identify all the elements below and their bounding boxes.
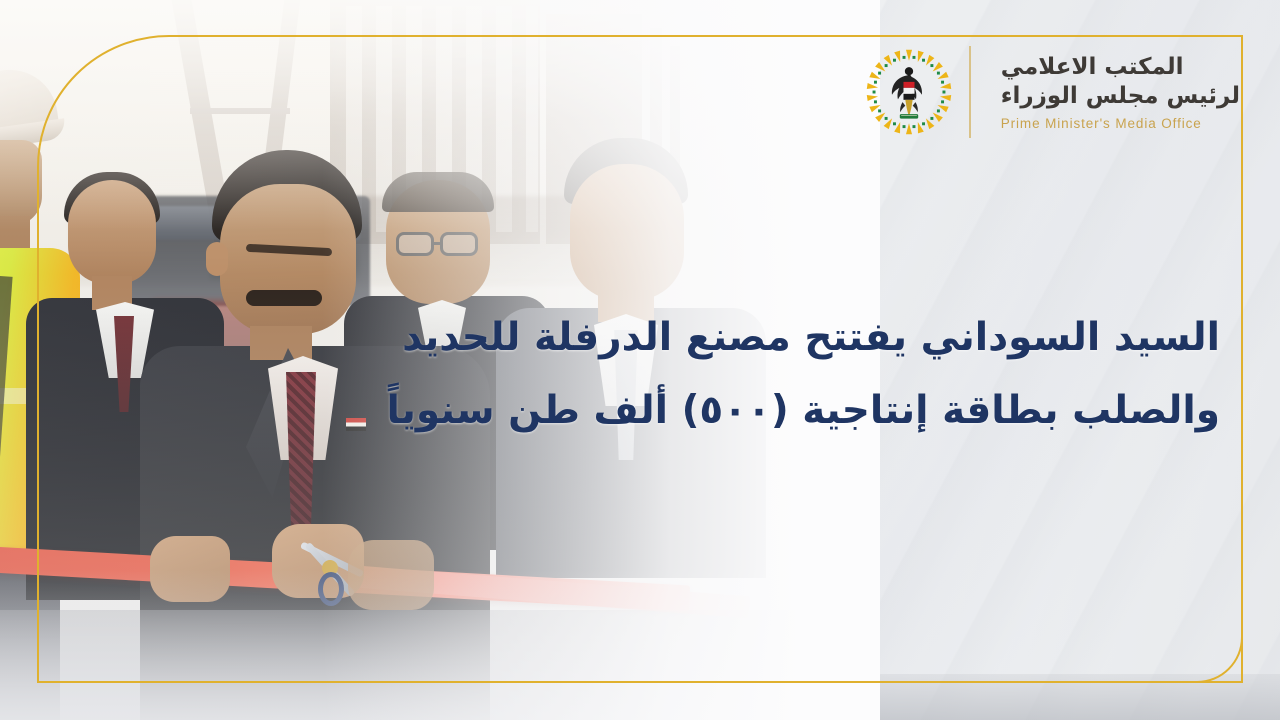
logo-english-line: Prime Minister's Media Office [1001, 116, 1202, 131]
pmo-logo-lockup: المكتب الاعلامي لرئيس مجلس الوزراء Prime… [863, 46, 1240, 138]
logo-text-block: المكتب الاعلامي لرئيس مجلس الوزراء Prime… [985, 53, 1240, 130]
headline-line-2: والصلب بطاقة إنتاجية (٥٠٠) ألف طن سنوياً [460, 391, 1220, 430]
logo-divider [969, 46, 971, 138]
headline-line-1: السيد السوداني يفتتح مصنع الدرفلة للحديد [460, 318, 1220, 357]
iraq-emblem-icon [863, 46, 955, 138]
headline-block: السيد السوداني يفتتح مصنع الدرفلة للحديد… [460, 318, 1220, 430]
logo-arabic-line-1: المكتب الاعلامي [1001, 53, 1184, 81]
media-card: المكتب الاعلامي لرئيس مجلس الوزراء Prime… [0, 0, 1280, 720]
logo-arabic-line-2: لرئيس مجلس الوزراء [1001, 82, 1240, 110]
